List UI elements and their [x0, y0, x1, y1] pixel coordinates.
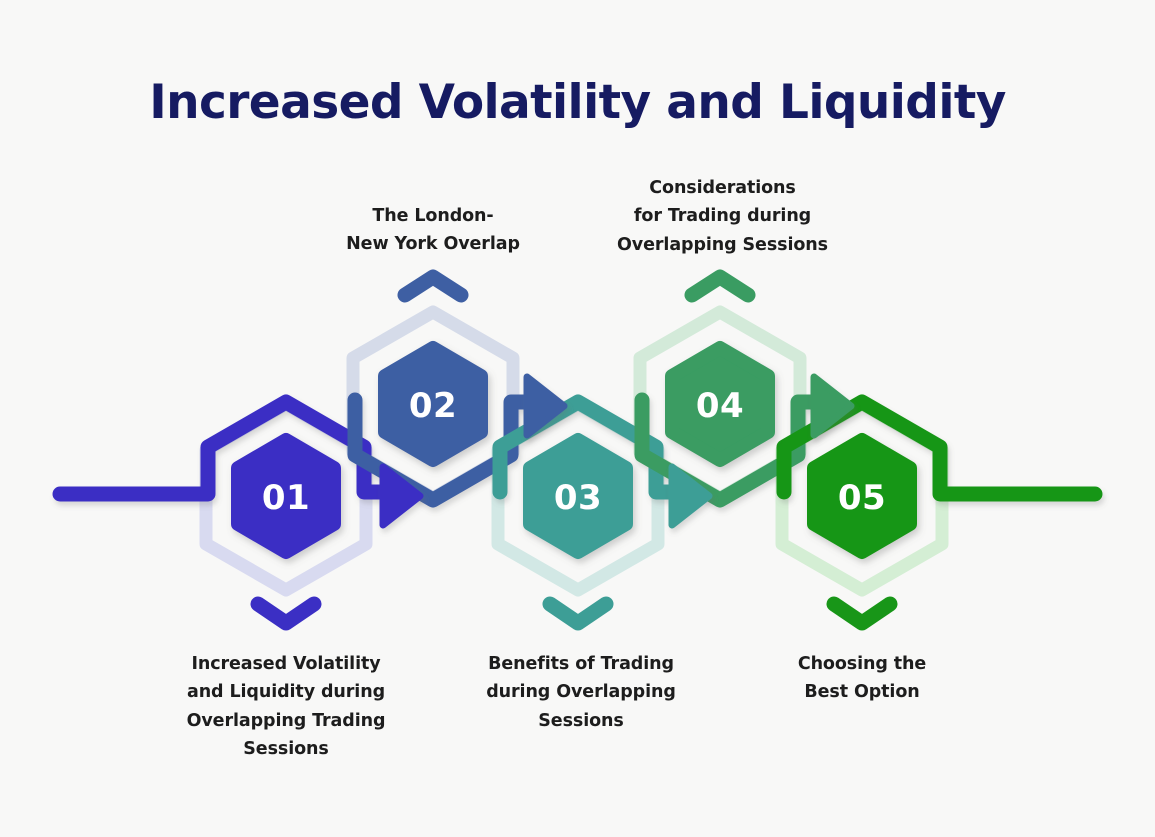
step-label-03: Benefits of Trading during Overlapping S…: [451, 650, 711, 735]
hexagon-number-01: 01: [262, 478, 310, 518]
step-node-05[interactable]: 05: [814, 440, 910, 552]
step-node-03[interactable]: 03: [530, 440, 626, 552]
step-label-05-line-1: Choosing the: [742, 650, 982, 678]
hexagon-number-05: 05: [838, 478, 886, 518]
hexagon-number-03: 03: [554, 478, 602, 518]
step-label-02-line-1: The London-: [303, 202, 563, 230]
chevron-down-icon-03: [550, 604, 606, 623]
step-label-04-line-3: Overlapping Sessions: [585, 231, 860, 259]
step-label-05-line-2: Best Option: [742, 678, 982, 706]
chevron-up-icon-04: [692, 277, 748, 295]
chevron-down-icon-01: [258, 604, 314, 623]
step-node-01[interactable]: 01: [238, 440, 334, 552]
page-title: Increased Volatility and Liquidity: [0, 76, 1155, 130]
step-label-01-line-3: Overlapping Trading: [146, 707, 426, 735]
chevron-up-icon-02: [405, 277, 461, 295]
step-label-05: Choosing the Best Option: [742, 650, 982, 707]
chevron-down-icon-05: [834, 604, 890, 623]
step-label-02-line-2: New York Overlap: [303, 230, 563, 258]
step-node-02[interactable]: 02: [385, 348, 481, 460]
step-label-03-line-2: during Overlapping: [451, 678, 711, 706]
step-node-04[interactable]: 04: [672, 348, 768, 460]
step-label-04: Considerations for Trading during Overla…: [585, 174, 860, 259]
step-label-03-line-1: Benefits of Trading: [451, 650, 711, 678]
step-label-02: The London- New York Overlap: [303, 202, 563, 259]
hexagon-number-02: 02: [409, 386, 457, 426]
step-label-01: Increased Volatility and Liquidity durin…: [146, 650, 426, 763]
step-label-03-line-3: Sessions: [451, 707, 711, 735]
step-label-01-line-2: and Liquidity during: [146, 678, 426, 706]
step-label-01-line-1: Increased Volatility: [146, 650, 426, 678]
infographic-canvas: 01 02 03 04 05 Increased Volatility and: [0, 0, 1155, 837]
step-label-04-line-1: Considerations: [585, 174, 860, 202]
step-label-04-line-2: for Trading during: [585, 202, 860, 230]
hexagon-number-04: 04: [696, 386, 744, 426]
step-label-01-line-4: Sessions: [146, 735, 426, 763]
